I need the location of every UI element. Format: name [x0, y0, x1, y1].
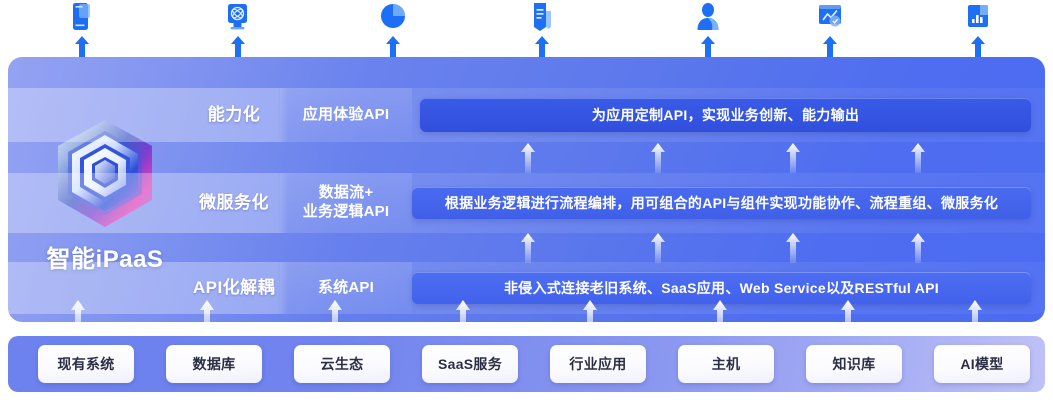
- layer-api-label: 应用体验API: [280, 88, 412, 142]
- flow-arrow-up-icon: [785, 233, 801, 263]
- network-app-icon: [223, 2, 253, 36]
- layer-stage-label: API化解耦: [188, 278, 280, 298]
- layer-capability: 能力化 应用体验API 为应用定制API，实现业务创新、能力输出: [8, 88, 1045, 142]
- flow-arrow-up-icon: [327, 300, 343, 334]
- flow-arrow-up-icon: [650, 143, 666, 173]
- flow-arrow-up-icon: [700, 36, 716, 58]
- flow-arrow-up-icon: [520, 233, 536, 263]
- ipaas-architecture-diagram: 智能iPaaS 能力化 应用体验API 为应用定制API，实现业务创新、能力输出…: [0, 0, 1053, 400]
- layer-microservice: 微服务化 数据流+ 业务逻辑API 根据业务逻辑进行流程编排，用可组合的API与…: [8, 173, 1045, 233]
- flow-arrow-up-icon: [840, 300, 856, 334]
- flow-arrow-up-icon: [967, 300, 983, 334]
- source-box[interactable]: 云生态: [294, 345, 390, 383]
- top-icon-dashboard: [807, 2, 853, 56]
- source-box[interactable]: 主机: [678, 345, 774, 383]
- flow-arrow-up-icon: [970, 36, 986, 58]
- mobile-app-icon: [67, 2, 97, 36]
- layer-description: 为应用定制API，实现业务创新、能力输出: [420, 98, 1031, 132]
- consumer-icon-strip: [0, 0, 1053, 56]
- layer-stage-label: 微服务化: [188, 193, 280, 213]
- flow-arrow-up-icon: [650, 233, 666, 263]
- flow-arrow-up-icon: [74, 36, 90, 58]
- dashboard-icon: [815, 2, 845, 36]
- source-box[interactable]: SaaS服务: [422, 345, 518, 383]
- layer-api-label: 系统API: [280, 262, 412, 314]
- top-icon-mobile-app: [59, 2, 105, 56]
- flow-arrow-up-icon: [785, 143, 801, 173]
- flow-arrow-up-icon: [910, 143, 926, 173]
- top-icon-pie-chart: [370, 2, 416, 56]
- top-icon-bar-chart: [955, 2, 1001, 56]
- document-icon: [527, 2, 557, 36]
- ipaas-platform-panel: 智能iPaaS 能力化 应用体验API 为应用定制API，实现业务创新、能力输出…: [8, 57, 1045, 322]
- flow-arrow-up-icon: [385, 36, 401, 58]
- layer-stage-label: 能力化: [188, 105, 280, 125]
- flow-arrow-up-icon: [70, 300, 86, 334]
- pie-chart-icon: [378, 2, 408, 36]
- flow-arrow-up-icon: [910, 233, 926, 263]
- flow-arrow-up-icon: [582, 300, 598, 334]
- source-box[interactable]: 数据库: [166, 345, 262, 383]
- top-icon-document: [519, 2, 565, 56]
- layer-api-label-line2: 业务逻辑API: [303, 203, 389, 220]
- flow-arrow-up-icon: [712, 300, 728, 334]
- source-box[interactable]: AI模型: [934, 345, 1030, 383]
- layer-api-label: 数据流+ 业务逻辑API: [280, 173, 412, 233]
- layer-api-label-line1: 数据流+: [319, 184, 374, 201]
- bar-chart-icon: [963, 2, 993, 36]
- source-box[interactable]: 知识库: [806, 345, 902, 383]
- flow-arrow-up-icon: [822, 36, 838, 58]
- layer-api-decoupling: API化解耦 系统API 非侵入式连接老旧系统、SaaS应用、Web Servi…: [8, 262, 1045, 314]
- source-box[interactable]: 行业应用: [550, 345, 646, 383]
- top-icon-user: [685, 2, 731, 56]
- flow-arrow-up-icon: [455, 300, 471, 334]
- flow-arrow-up-icon: [534, 36, 550, 58]
- source-systems-bar: 现有系统 数据库 云生态 SaaS服务 行业应用 主机 知识库 AI模型: [8, 336, 1045, 392]
- source-box[interactable]: 现有系统: [38, 345, 134, 383]
- user-icon: [693, 2, 723, 36]
- top-icon-network-app: [215, 2, 261, 56]
- flow-arrow-up-icon: [520, 143, 536, 173]
- flow-arrow-up-icon: [199, 300, 215, 334]
- layer-description: 根据业务逻辑进行流程编排，用可组合的API与组件实现功能协作、流程重组、微服务化: [412, 187, 1031, 219]
- flow-arrow-up-icon: [230, 36, 246, 58]
